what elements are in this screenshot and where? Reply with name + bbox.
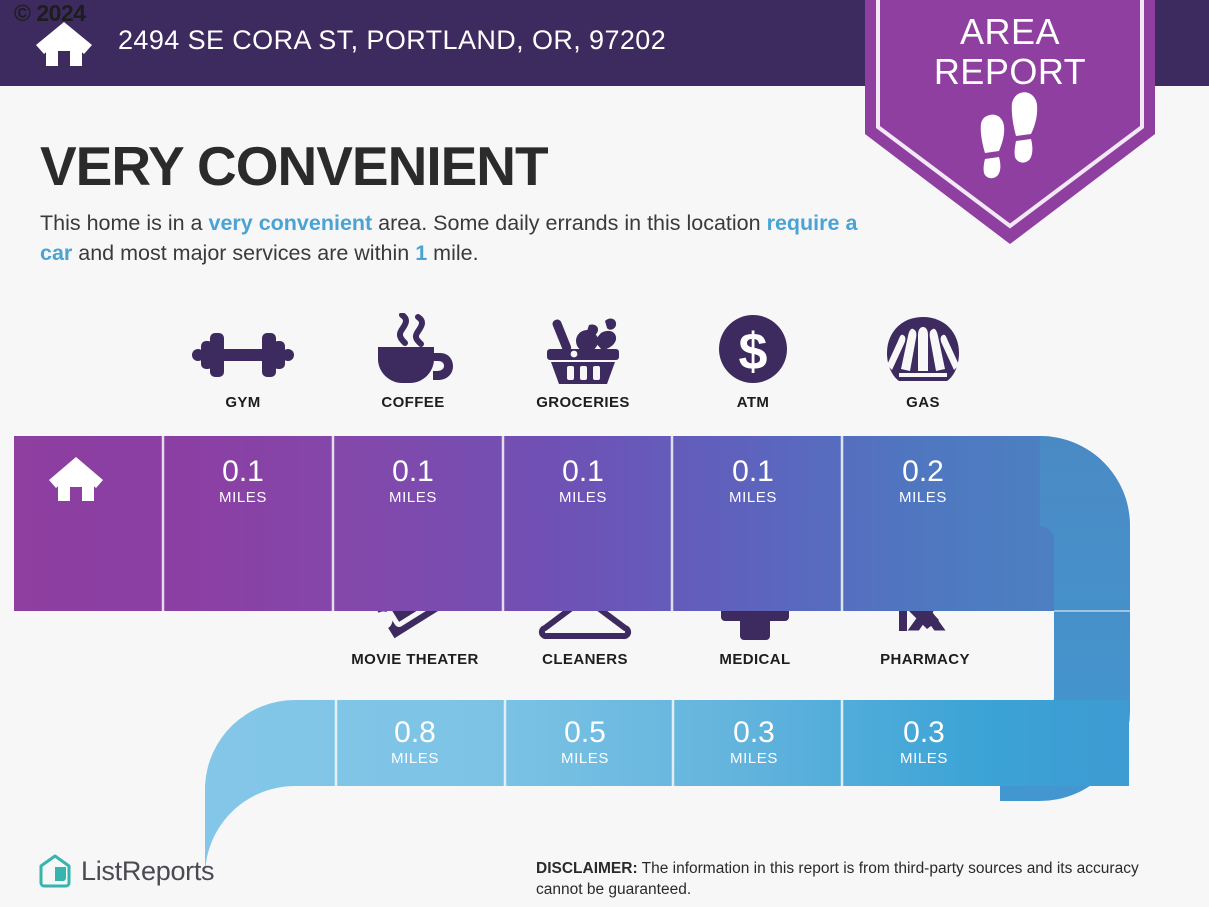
amenity-gym: GYM — [158, 313, 328, 411]
amenity-gas: GAS — [838, 313, 1008, 411]
summary-highlight-1: very convenient — [208, 211, 372, 235]
property-address: 2494 SE CORA ST, PORTLAND, OR, 97202 — [118, 25, 666, 56]
summary-part-3: and most major services are within — [72, 241, 415, 265]
shell-icon — [885, 315, 961, 385]
logo-text: ListReports — [81, 856, 214, 887]
listreports-house-icon — [38, 853, 72, 889]
distance-ribbon — [0, 430, 1209, 907]
disclaimer-label: DISCLAIMER: — [536, 860, 638, 877]
amenity-label: ATM — [668, 394, 838, 411]
summary-part-4: mile. — [427, 241, 478, 265]
svg-text:$: $ — [739, 323, 768, 381]
disclaimer: DISCLAIMER: The information in this repo… — [536, 858, 1176, 900]
amenity-label: COFFEE — [328, 394, 498, 411]
summary-part-2: area. Some daily errands in this locatio… — [372, 211, 766, 235]
amenity-coffee: COFFEE — [328, 313, 498, 411]
area-report-badge: AREA REPORT — [865, 0, 1155, 244]
amenity-label: GROCERIES — [498, 394, 668, 411]
summary-part-1: This home is in a — [40, 211, 208, 235]
dumbbell-icon — [190, 325, 296, 385]
dollar-circle-icon: $ — [717, 313, 789, 385]
amenity-label: GAS — [838, 394, 1008, 411]
amenity-label: GYM — [158, 394, 328, 411]
ribbon-row-1-band — [0, 430, 1209, 630]
home-icon-ribbon — [48, 455, 104, 503]
listreports-logo[interactable]: ListReports — [38, 853, 214, 889]
amenity-groceries: GROCERIES — [498, 313, 668, 411]
summary-highlight-3: 1 — [415, 241, 427, 265]
page-title: VERY CONVENIENT — [40, 134, 548, 198]
summary-text: This home is in a very convenient area. … — [40, 208, 860, 268]
copyright-watermark: © 2024 — [14, 2, 86, 25]
amenity-atm: $ ATM — [668, 313, 838, 411]
grocery-basket-icon — [543, 313, 623, 385]
coffee-cup-icon — [372, 313, 454, 385]
